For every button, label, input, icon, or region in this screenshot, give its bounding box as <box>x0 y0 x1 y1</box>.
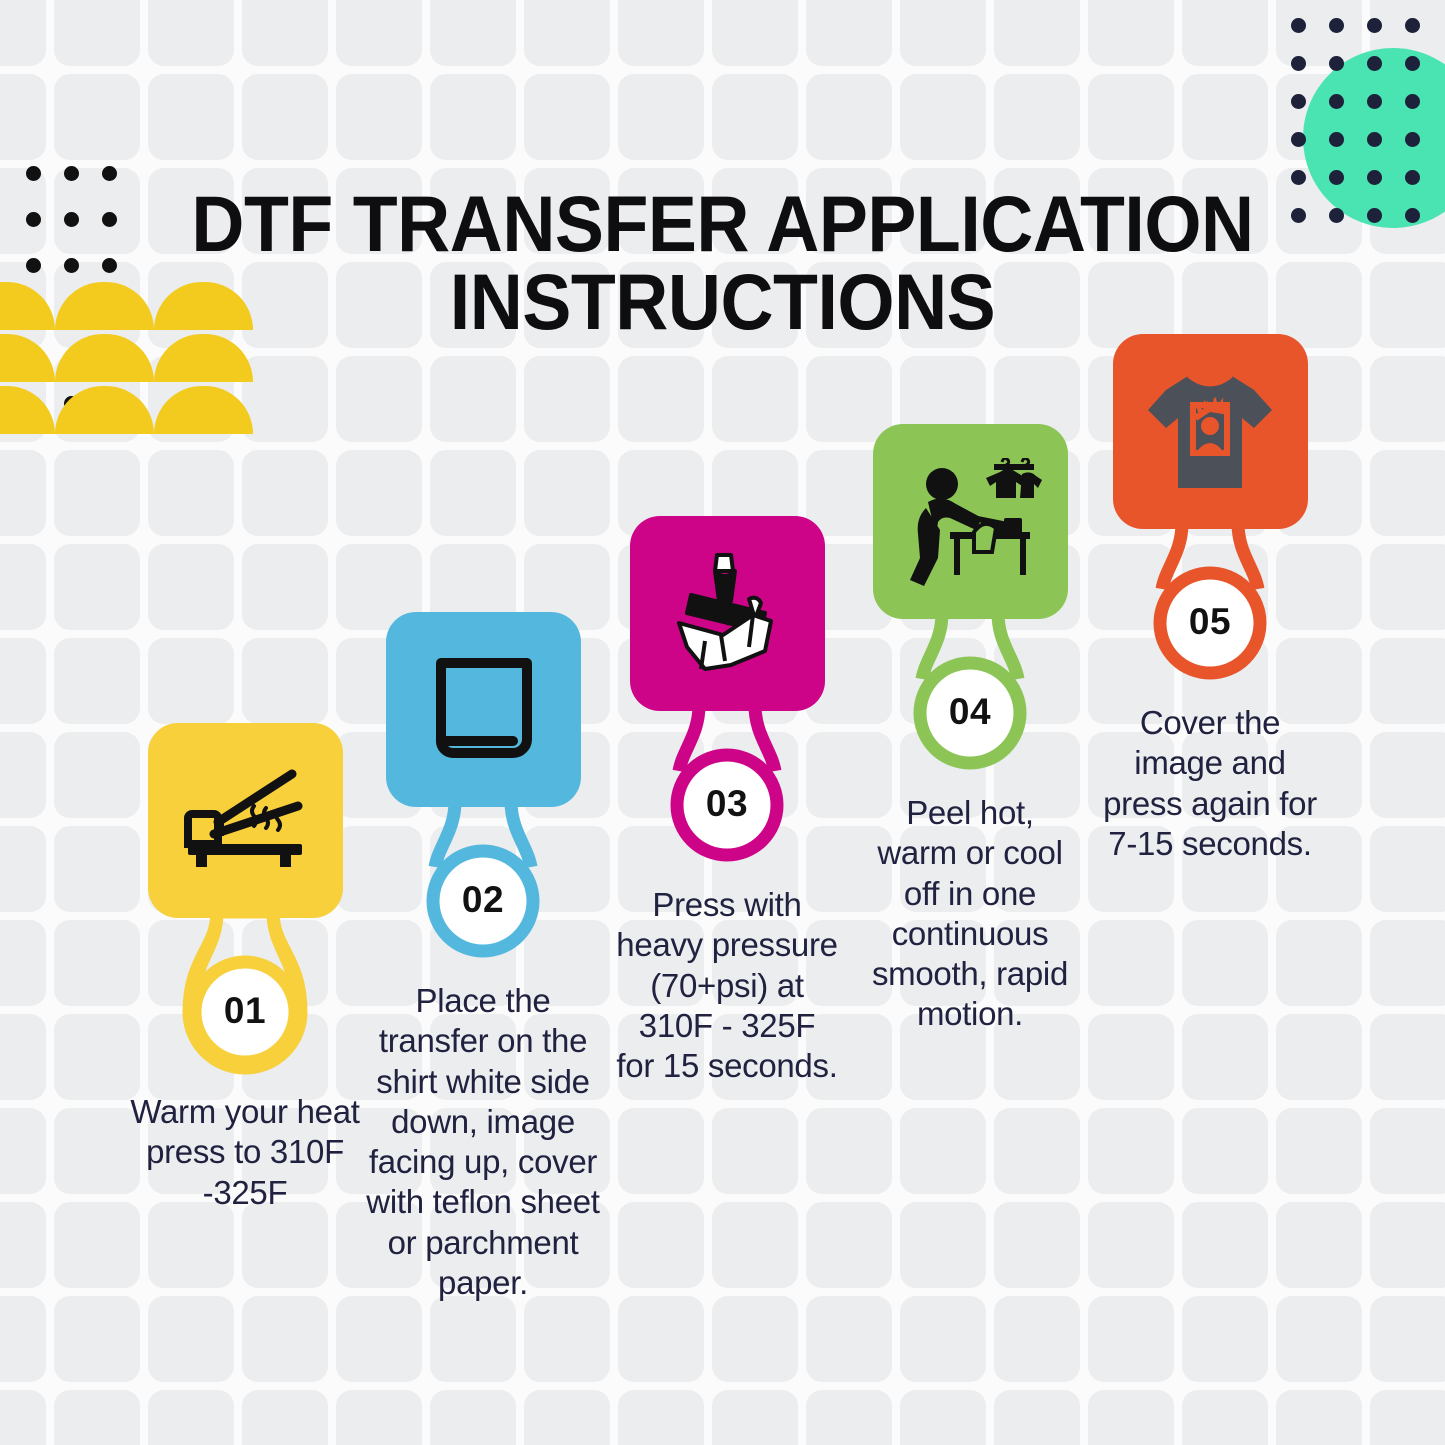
step-02-connector: 02 <box>403 801 563 969</box>
step-05-caption: Cover the image and press again for 7-15… <box>1102 703 1318 864</box>
page-title: DTF TRANSFER APPLICATION INSTRUCTIONS <box>51 185 1395 341</box>
step-02-icon-card[interactable] <box>386 612 581 807</box>
step-04-caption: Peel hot, warm or cool off in one contin… <box>870 793 1070 1035</box>
step-04-number: 04 <box>890 691 1050 733</box>
step-02-caption: Place the transfer on the shirt white si… <box>359 981 607 1303</box>
step-04-icon-card[interactable] <box>873 424 1068 619</box>
step-card-03[interactable]: 03 Press with heavy pressure (70+psi) at… <box>602 516 852 1086</box>
step-04-connector: 04 <box>890 613 1050 781</box>
step-01-caption: Warm your heat press to 310F -325F <box>130 1092 360 1213</box>
step-01-number: 01 <box>165 990 325 1032</box>
step-01-connector: 01 <box>165 912 325 1080</box>
page-title-line-2: INSTRUCTIONS <box>51 263 1395 341</box>
heat-press-machine-icon <box>661 551 793 676</box>
transfer-sheet-icon <box>423 651 543 769</box>
step-02-number: 02 <box>403 879 563 921</box>
printed-tshirt-icon <box>1140 368 1280 496</box>
step-01-icon-card[interactable] <box>148 723 343 918</box>
step-card-05[interactable]: 05 Cover the image and press again for 7… <box>1085 334 1335 864</box>
step-05-icon-card[interactable] <box>1113 334 1308 529</box>
step-card-01[interactable]: 01 Warm your heat press to 310F -325F <box>120 723 370 1213</box>
step-05-connector: 05 <box>1130 523 1290 691</box>
step-card-04[interactable]: 04 Peel hot, warm or cool off in one con… <box>845 424 1095 1035</box>
step-05-number: 05 <box>1130 601 1290 643</box>
page-title-line-1: DTF TRANSFER APPLICATION <box>191 179 1253 268</box>
peel-transfer-icon <box>898 458 1043 586</box>
step-card-02[interactable]: 02 Place the transfer on the shirt white… <box>358 612 608 1303</box>
heat-press-open-icon <box>180 766 310 876</box>
step-03-caption: Press with heavy pressure (70+psi) at 31… <box>616 885 838 1086</box>
step-03-number: 03 <box>647 783 807 825</box>
step-03-icon-card[interactable] <box>630 516 825 711</box>
step-03-connector: 03 <box>647 705 807 873</box>
